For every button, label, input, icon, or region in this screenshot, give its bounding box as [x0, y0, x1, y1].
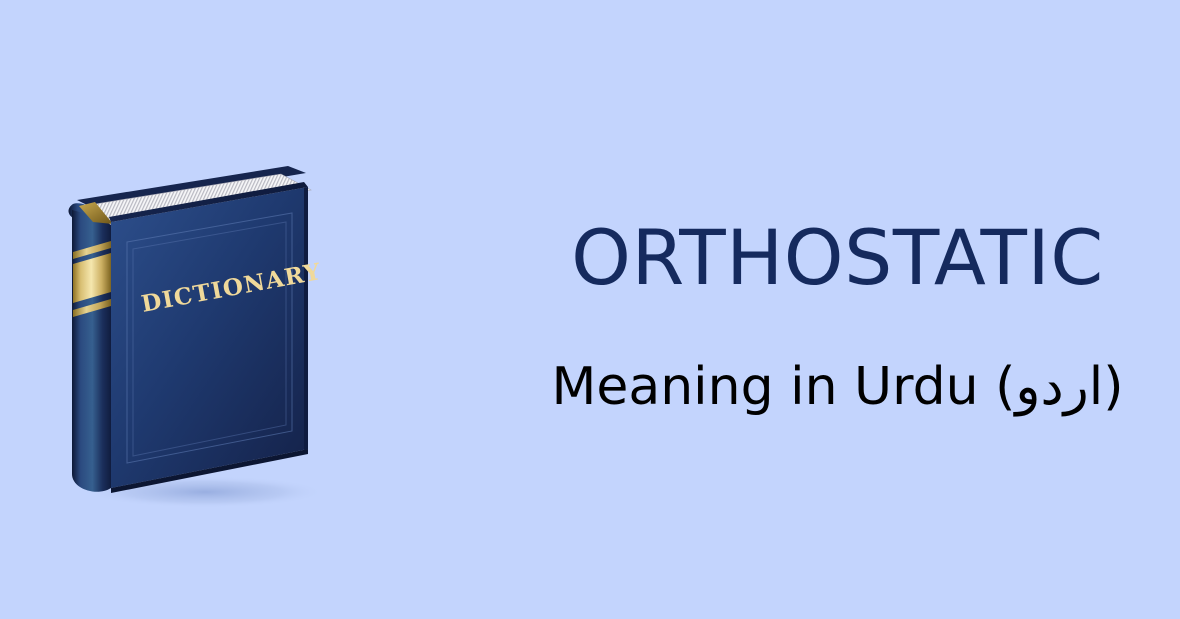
book-cover-fore-edge	[304, 187, 308, 450]
meaning-prefix-text: Meaning in Urdu	[552, 357, 996, 417]
page-root: DICTIONARY ORTHOSTATIC Meaning in Urdu (…	[0, 0, 1180, 619]
meaning-subtitle: Meaning in Urdu (اردو)	[495, 354, 1180, 420]
headline-text-block: ORTHOSTATIC Meaning in Urdu (اردو)	[495, 212, 1180, 442]
book-front-cover	[111, 187, 308, 488]
dictionary-book-svg: DICTIONARY	[55, 140, 355, 520]
page-title-word: ORTHOSTATIC	[495, 212, 1180, 304]
meaning-urdu-text: اردو	[1015, 357, 1103, 417]
meaning-open-paren: (	[995, 357, 1015, 417]
dictionary-book-illustration: DICTIONARY	[55, 140, 355, 520]
meaning-close-paren: )	[1103, 357, 1123, 417]
